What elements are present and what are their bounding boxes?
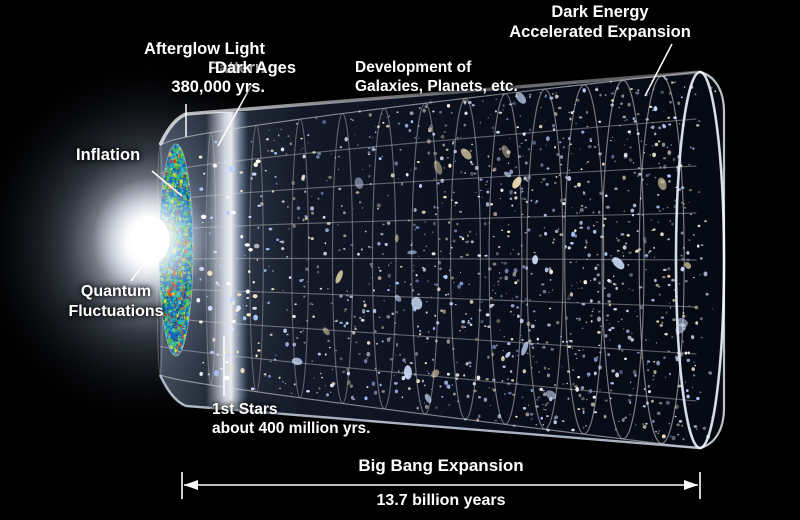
- galaxy-point: [628, 252, 632, 254]
- galaxy-point: [488, 188, 489, 189]
- galaxy-point: [453, 282, 455, 284]
- galaxy-point: [504, 276, 508, 281]
- galaxy-point: [663, 111, 664, 112]
- galaxy-point: [517, 315, 520, 319]
- cmb-fluctuation: [173, 321, 176, 325]
- galaxy-point: [549, 269, 553, 274]
- galaxy-point: [320, 288, 322, 290]
- galaxy-point: [613, 275, 615, 277]
- galaxy-point: [647, 369, 649, 371]
- galaxy-point: [686, 435, 687, 436]
- galaxy-point: [653, 361, 655, 363]
- galaxy-point: [657, 206, 660, 209]
- cmb-fluctuation: [188, 189, 189, 191]
- cmb-fluctuation: [175, 353, 176, 355]
- galaxy-point: [489, 387, 490, 388]
- galaxy-point: [707, 72, 709, 74]
- galaxy-point: [353, 208, 354, 209]
- galaxy-point: [268, 375, 271, 378]
- galaxy-point: [520, 115, 521, 117]
- galaxy-point: [344, 308, 347, 310]
- galaxy-point: [448, 164, 451, 168]
- cmb-fluctuation: [173, 170, 175, 173]
- galaxy-point: [633, 120, 636, 122]
- galaxy-point: [651, 126, 654, 130]
- galaxy-point: [618, 421, 620, 423]
- galaxy-point: [617, 239, 621, 242]
- galaxy-point: [340, 146, 343, 148]
- galaxy-point: [498, 284, 500, 285]
- cmb-fluctuation: [174, 319, 177, 320]
- galaxy-point: [471, 163, 473, 165]
- galaxy-point: [658, 162, 660, 164]
- galaxy-point: [347, 299, 349, 301]
- galaxy-point: [425, 222, 426, 223]
- galaxy-point: [604, 287, 606, 289]
- galaxy-point: [388, 274, 391, 278]
- galaxy-point: [615, 160, 616, 162]
- galaxy-point: [229, 295, 232, 298]
- galaxy-point: [588, 393, 589, 394]
- galaxy-point: [638, 90, 639, 91]
- galaxy-point: [365, 231, 367, 233]
- galaxy-point: [428, 127, 432, 132]
- galaxy-point: [581, 168, 583, 170]
- galaxy-point: [369, 113, 373, 116]
- galaxy-point: [521, 188, 524, 190]
- galaxy-point: [610, 382, 614, 384]
- galaxy-point: [597, 291, 599, 293]
- galaxy-point: [278, 134, 280, 136]
- galaxy-point: [409, 129, 412, 132]
- galaxy-point: [588, 145, 592, 148]
- galaxy-point: [492, 126, 494, 129]
- galaxy-point: [362, 309, 365, 313]
- galaxy-point: [562, 420, 565, 422]
- galaxy-point: [264, 373, 267, 375]
- galaxy-point: [422, 380, 424, 383]
- galaxy-point: [679, 420, 683, 423]
- galaxy-point: [332, 382, 336, 385]
- cmb-fluctuation: [180, 180, 183, 184]
- galaxy-point: [660, 324, 663, 327]
- galaxy-point: [498, 246, 500, 248]
- galaxy-point: [196, 298, 200, 302]
- galaxy-point: [496, 131, 500, 134]
- galaxy-point: [540, 163, 543, 167]
- galaxy-point: [606, 320, 608, 321]
- galaxy-point: [236, 305, 241, 310]
- cmb-fluctuation: [175, 307, 176, 310]
- galaxy-point: [692, 147, 694, 149]
- galaxy-point: [264, 269, 267, 272]
- galaxy-point: [669, 373, 671, 375]
- galaxy-point: [422, 267, 424, 269]
- cmb-fluctuation: [185, 308, 186, 312]
- cmb-fluctuation: [173, 148, 174, 150]
- cmb-fluctuation: [170, 319, 173, 322]
- galaxy-point: [557, 96, 559, 97]
- galaxy-point: [274, 140, 275, 141]
- galaxy-point: [199, 372, 203, 376]
- galaxy-point: [492, 345, 496, 349]
- galaxy-point: [487, 356, 489, 359]
- cmb-fluctuation: [166, 168, 168, 170]
- galaxy-point: [563, 383, 564, 384]
- galaxy-point: [624, 153, 628, 158]
- galaxy-point: [271, 150, 274, 153]
- galaxy-point: [567, 176, 571, 181]
- cmb-fluctuation: [174, 321, 175, 322]
- galaxy-point: [547, 324, 551, 327]
- galaxy-point: [579, 212, 580, 213]
- cmb-fluctuation: [174, 174, 176, 178]
- galaxy-point: [218, 284, 219, 286]
- galaxy-point: [514, 210, 515, 212]
- scale-bar-arrowhead-left: [184, 480, 198, 490]
- galaxy-point: [303, 155, 306, 159]
- galaxy-point: [523, 369, 526, 373]
- cmb-fluctuation: [185, 320, 187, 323]
- galaxy-point: [509, 138, 510, 139]
- galaxy-point: [416, 226, 420, 229]
- galaxy-point: [350, 119, 352, 120]
- galaxy-point: [463, 374, 465, 376]
- galaxy-point: [425, 362, 427, 364]
- galaxy-point: [659, 402, 663, 405]
- galaxy-point: [459, 211, 462, 213]
- galaxy-point: [693, 361, 695, 363]
- galaxy-point: [585, 239, 587, 242]
- galaxy-point: [265, 170, 267, 172]
- galaxy-point: [540, 148, 542, 150]
- galaxy-point: [582, 408, 584, 410]
- galaxy-point: [519, 146, 521, 148]
- galaxy-point: [235, 313, 237, 316]
- galaxy-point: [650, 219, 652, 221]
- galaxy-point: [369, 246, 372, 248]
- galaxy-point: [486, 191, 489, 194]
- cmb-fluctuation: [176, 346, 178, 349]
- galaxy-point: [701, 337, 703, 339]
- galaxy-point: [479, 179, 482, 181]
- galaxy-point: [631, 333, 632, 335]
- galaxy-point: [699, 391, 701, 393]
- galaxy-point: [354, 316, 356, 317]
- galaxy-point: [623, 116, 627, 119]
- galaxy-point: [502, 350, 504, 351]
- galaxy-point: [500, 198, 501, 199]
- cmb-fluctuation: [167, 322, 170, 325]
- galaxy-point: [598, 121, 601, 123]
- galaxy-point: [303, 286, 305, 288]
- galaxy-point: [446, 149, 449, 151]
- galaxy-point: [539, 294, 541, 296]
- galaxy-point: [231, 211, 236, 215]
- cmb-fluctuation: [184, 299, 186, 302]
- galaxy-point: [605, 399, 608, 401]
- galaxy-point: [402, 359, 405, 362]
- galaxy-point: [453, 192, 455, 193]
- galaxy-point: [486, 181, 488, 183]
- galaxy-point: [441, 396, 443, 398]
- galaxy-point: [453, 393, 456, 396]
- galaxy-point: [275, 183, 277, 185]
- galaxy-point: [512, 355, 515, 357]
- galaxy-point: [586, 399, 587, 401]
- galaxy-point: [624, 264, 625, 265]
- galaxy-point: [529, 129, 532, 132]
- galaxy-point: [656, 284, 659, 287]
- galaxy-point: [574, 234, 577, 237]
- galaxy-point: [391, 312, 394, 315]
- cmb-fluctuation: [185, 182, 187, 186]
- galaxy-point: [525, 139, 527, 141]
- galaxy-point: [307, 134, 309, 136]
- galaxy-point: [410, 362, 413, 364]
- galaxy-point: [368, 175, 370, 178]
- galaxy-point: [646, 174, 649, 177]
- cmb-fluctuation: [175, 327, 178, 328]
- cmb-fluctuation: [176, 330, 178, 332]
- galaxy-point: [382, 122, 384, 124]
- galaxy-point: [696, 124, 699, 126]
- galaxy-point: [229, 327, 234, 330]
- galaxy-point: [456, 223, 458, 224]
- galaxy-point: [382, 254, 384, 255]
- galaxy-point: [398, 123, 401, 125]
- galaxy-point: [359, 201, 361, 203]
- galaxy-point: [484, 255, 487, 257]
- galaxy-point: [542, 178, 546, 181]
- galaxy-point: [526, 352, 528, 354]
- galaxy-point: [291, 393, 293, 394]
- galaxy-point: [378, 372, 381, 374]
- galaxy-point: [394, 161, 398, 165]
- galaxy-point: [699, 274, 701, 275]
- galaxy-point: [598, 345, 600, 347]
- galaxy-point: [499, 112, 503, 114]
- label-dark-energy-accelerated-expansion: Dark Energy Accelerated Expansion: [495, 2, 705, 42]
- galaxy-point: [555, 92, 556, 93]
- galaxy-point: [652, 379, 654, 381]
- galaxy-point: [444, 124, 447, 126]
- galaxy-point: [629, 273, 633, 277]
- galaxy-point: [686, 389, 689, 392]
- galaxy-point: [203, 172, 205, 174]
- galaxy-point: [382, 390, 385, 393]
- galaxy-point: [663, 125, 667, 129]
- cmb-fluctuation: [174, 165, 175, 167]
- galaxy-point: [664, 333, 668, 336]
- galaxy-point: [671, 82, 674, 84]
- galaxy-point: [583, 192, 586, 195]
- galaxy-point: [317, 198, 319, 200]
- galaxy-point: [692, 387, 693, 389]
- galaxy-point: [645, 339, 647, 340]
- galaxy-point: [300, 331, 302, 333]
- galaxy-point: [226, 196, 229, 198]
- galaxy-point: [541, 182, 543, 184]
- cmb-fluctuation: [175, 303, 176, 307]
- galaxy-point: [507, 378, 509, 379]
- galaxy-point: [286, 309, 288, 310]
- cmb-fluctuation: [174, 164, 176, 166]
- galaxy-point: [594, 267, 597, 271]
- cmb-fluctuation: [177, 351, 178, 355]
- galaxy-point: [326, 180, 327, 181]
- galaxy-point: [570, 242, 574, 245]
- galaxy-point: [621, 318, 623, 320]
- galaxy-point: [341, 205, 343, 207]
- galaxy-point: [665, 377, 666, 378]
- galaxy-point: [693, 234, 695, 236]
- galaxy-point: [355, 342, 358, 344]
- galaxy-point: [470, 318, 472, 320]
- galaxy-point: [500, 330, 501, 331]
- galaxy-point: [447, 339, 451, 344]
- galaxy-point: [380, 384, 382, 387]
- galaxy-point: [589, 138, 592, 140]
- galaxy-point: [357, 253, 360, 256]
- galaxy-point: [375, 126, 376, 127]
- galaxy-point: [415, 279, 419, 282]
- galaxy-point: [506, 293, 507, 294]
- galaxy-point: [522, 214, 524, 215]
- galaxy-point: [426, 246, 427, 248]
- galaxy-point: [377, 208, 379, 209]
- galaxy-point: [506, 118, 508, 120]
- galaxy-point: [390, 262, 391, 263]
- galaxy-point: [302, 148, 303, 150]
- galaxy-point: [671, 223, 674, 226]
- cmb-fluctuation: [175, 157, 177, 159]
- galaxy-point: [462, 237, 465, 240]
- galaxy-point: [543, 390, 545, 392]
- galaxy-point: [493, 236, 495, 237]
- galaxy-point: [586, 111, 588, 114]
- galaxy-point: [410, 111, 414, 115]
- galaxy-point: [531, 418, 533, 420]
- galaxy-point: [577, 376, 580, 379]
- galaxy-point: [558, 107, 562, 109]
- galaxy-point: [622, 176, 625, 180]
- cmb-fluctuation: [180, 331, 181, 333]
- galaxy-point: [535, 361, 537, 363]
- galaxy-point: [312, 315, 315, 318]
- galaxy-point: [593, 230, 597, 234]
- galaxy-point: [239, 171, 243, 173]
- galaxy-point: [343, 212, 346, 215]
- galaxy-point: [578, 394, 581, 397]
- galaxy-point: [481, 155, 482, 156]
- galaxy-point: [510, 311, 512, 313]
- cmb-fluctuation: [182, 154, 183, 155]
- galaxy-point: [347, 338, 349, 340]
- galaxy-point: [579, 116, 582, 118]
- galaxy-point: [712, 308, 713, 309]
- galaxy-point: [694, 425, 698, 427]
- galaxy-point: [499, 272, 500, 273]
- galaxy-point: [633, 117, 636, 120]
- galaxy-point: [546, 415, 549, 417]
- galaxy-point: [651, 400, 654, 403]
- galaxy-point: [399, 354, 401, 356]
- galaxy-point: [424, 403, 425, 404]
- galaxy-point: [400, 149, 402, 151]
- galaxy-point: [394, 382, 398, 385]
- galaxy-point: [490, 405, 491, 406]
- cmb-fluctuation: [176, 339, 178, 343]
- galaxy-point: [424, 105, 427, 107]
- galaxy-point: [290, 142, 292, 145]
- galaxy-point: [354, 326, 356, 328]
- galaxy-point: [623, 328, 624, 329]
- galaxy-point: [545, 267, 549, 272]
- galaxy-point: [581, 386, 584, 390]
- galaxy-point: [681, 232, 684, 235]
- cmb-fluctuation: [169, 345, 171, 347]
- galaxy-point: [613, 283, 615, 285]
- galaxy-point: [513, 102, 516, 106]
- galaxy-point: [396, 112, 398, 113]
- galaxy-point: [442, 203, 443, 204]
- galaxy-point: [484, 398, 487, 402]
- galaxy-point: [667, 117, 670, 119]
- galaxy-point: [452, 142, 454, 144]
- galaxy-point: [643, 425, 647, 429]
- galaxy-point: [694, 365, 696, 367]
- galaxy-point: [550, 279, 551, 281]
- galaxy-point: [227, 212, 230, 215]
- galaxy-point: [258, 342, 260, 344]
- galaxy-point: [576, 318, 578, 319]
- galaxy-point: [364, 304, 367, 308]
- cmb-fluctuation: [183, 292, 184, 295]
- galaxy-point: [510, 198, 513, 201]
- galaxy-point: [669, 303, 671, 305]
- galaxy-point: [554, 420, 557, 424]
- galaxy-point: [419, 107, 421, 109]
- galaxy-point: [571, 429, 574, 432]
- galaxy-point: [529, 94, 532, 96]
- galaxy-point: [656, 342, 657, 343]
- galaxy-point: [580, 208, 584, 212]
- cmb-fluctuation: [171, 346, 174, 349]
- galaxy-point: [629, 147, 632, 149]
- galaxy-point: [496, 344, 498, 346]
- galaxy-point: [568, 296, 569, 297]
- galaxy-point: [606, 314, 609, 316]
- cmb-fluctuation: [170, 315, 172, 318]
- cmb-fluctuation: [178, 328, 180, 329]
- galaxy-point: [563, 138, 564, 139]
- galaxy-point: [525, 298, 527, 301]
- cmb-fluctuation: [168, 169, 170, 173]
- cmb-fluctuation: [180, 173, 183, 177]
- cmb-fluctuation: [169, 175, 172, 177]
- galaxy-point: [531, 273, 533, 275]
- galaxy-point: [605, 194, 608, 197]
- galaxy-point: [535, 201, 538, 204]
- galaxy-point: [447, 104, 450, 108]
- galaxy-point: [426, 311, 428, 313]
- galaxy-point: [624, 417, 627, 419]
- galaxy-point: [267, 302, 268, 303]
- galaxy-point: [457, 137, 459, 139]
- galaxy-point: [503, 262, 507, 265]
- galaxy-point: [587, 373, 591, 376]
